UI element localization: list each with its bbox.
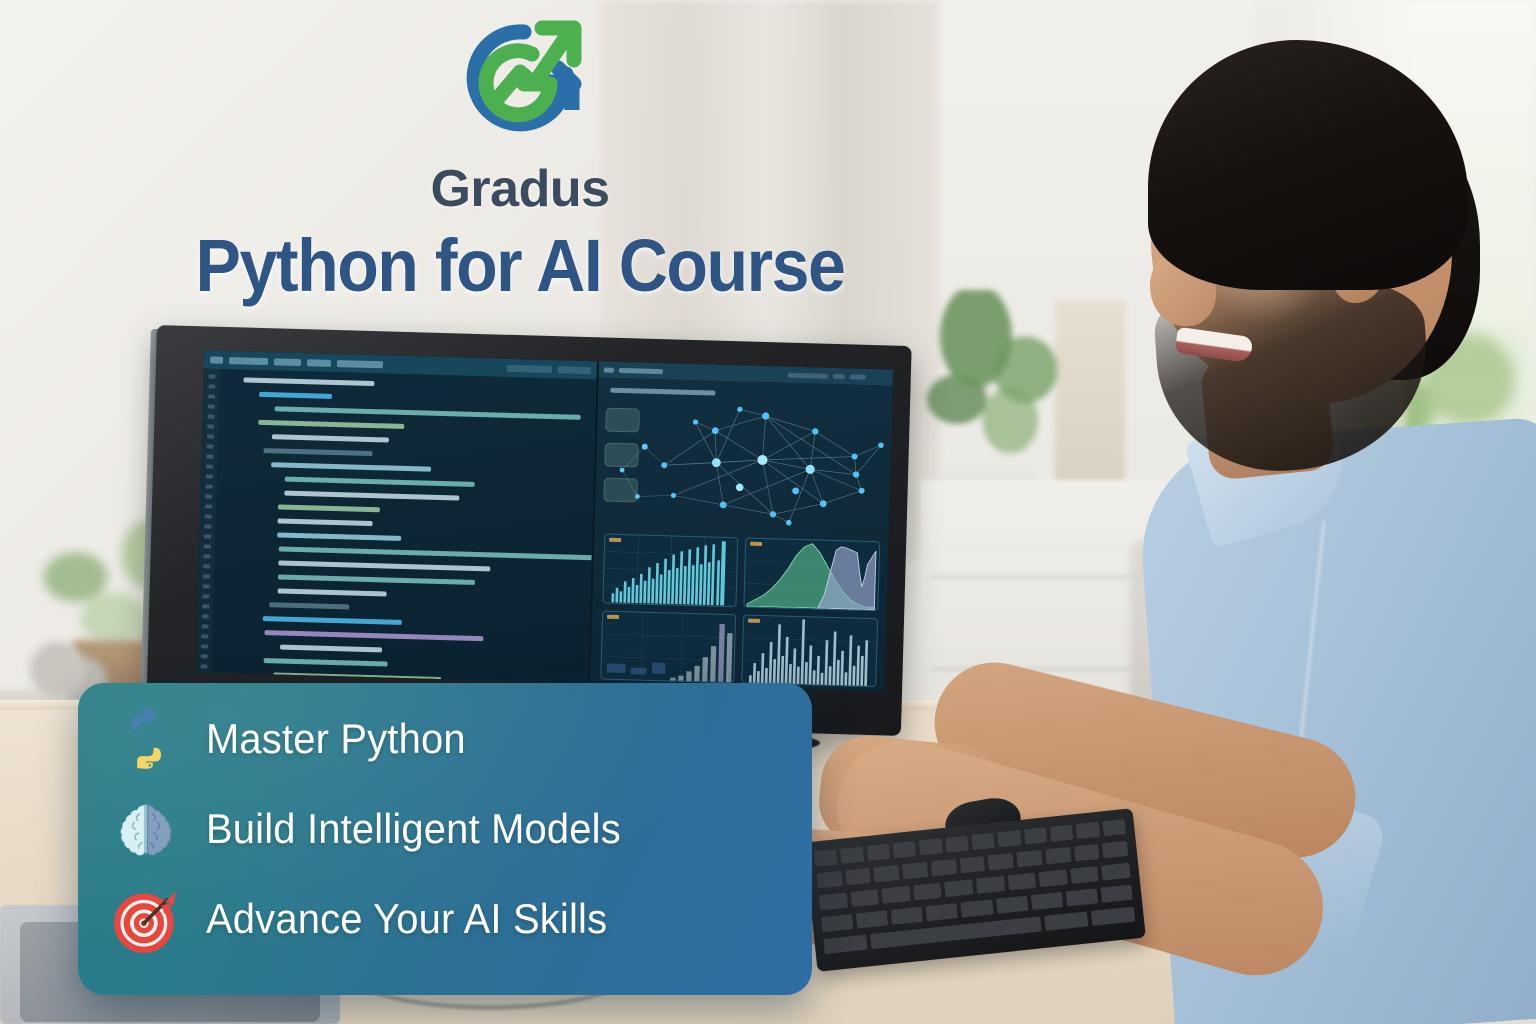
logo-icon bbox=[440, 10, 600, 158]
source-code-text bbox=[217, 377, 590, 683]
ultrawide-monitor bbox=[146, 325, 912, 736]
brain-icon bbox=[112, 795, 180, 863]
area-chart-green-purple bbox=[744, 538, 881, 611]
gradus-growth-arrow-logo bbox=[440, 10, 600, 163]
brand-name: Gradus bbox=[0, 159, 1040, 219]
feature-label: Master Python bbox=[206, 715, 466, 763]
hair bbox=[1148, 40, 1468, 290]
feature-item: Advance Your AI Skills bbox=[112, 885, 628, 953]
area-chart-svg bbox=[745, 539, 879, 610]
python-logo-icon bbox=[112, 705, 180, 773]
feature-item: Master Python bbox=[112, 705, 479, 773]
bar-chart-spiky bbox=[742, 614, 879, 687]
ai-dashboard-pane[interactable] bbox=[588, 361, 893, 691]
dashboard-heading bbox=[610, 388, 715, 396]
feature-label: Advance Your AI Skills bbox=[206, 895, 607, 943]
promo-banner: Gradus Python for AI Course Master Pytho… bbox=[0, 0, 1536, 1024]
bar-chart-svg bbox=[601, 611, 735, 682]
dashboard-chart-panels bbox=[600, 534, 880, 688]
monitor-screen bbox=[195, 350, 893, 691]
brand-header: Gradus Python for AI Course bbox=[0, 10, 1040, 308]
target-dart-icon bbox=[112, 885, 180, 953]
page-title: Python for AI Course bbox=[42, 223, 999, 308]
feature-label: Build Intelligent Models bbox=[206, 805, 621, 853]
bar-chart-svg bbox=[743, 615, 877, 686]
feature-item: Build Intelligent Models bbox=[112, 795, 643, 863]
bar-chart-cyan bbox=[602, 534, 739, 607]
code-editor-pane[interactable] bbox=[195, 350, 597, 683]
neural-network-node-graph bbox=[602, 398, 893, 536]
bar-chart-svg bbox=[603, 535, 737, 606]
bar-chart-pale bbox=[600, 610, 737, 683]
feature-card: Master Python Build In bbox=[78, 683, 812, 995]
